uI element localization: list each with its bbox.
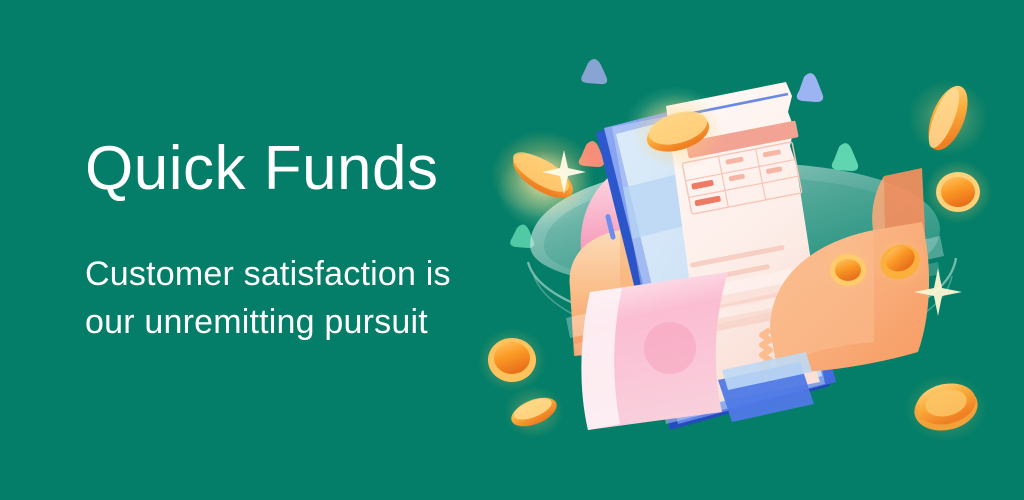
coin-top-right-edge (908, 80, 988, 156)
copy-block: Quick Funds Customer satisfaction is our… (85, 138, 565, 347)
subtitle: Customer satisfaction is our unremitting… (85, 250, 565, 347)
coin-on-ring (822, 246, 874, 294)
confetti-triangle-blue-left (581, 59, 607, 84)
confetti-triangle-mint-upper (832, 143, 858, 171)
banknote-watermark (644, 322, 696, 374)
coin-bottom-right (904, 374, 988, 442)
banknote-pink (581, 272, 728, 430)
confetti-triangle-blue-right (797, 73, 823, 102)
coin-lower-left-b (504, 386, 564, 438)
page-title: Quick Funds (85, 138, 565, 200)
coin-top-center (632, 94, 724, 170)
coin-right-upper (924, 160, 992, 224)
subtitle-line-2: our unremitting pursuit (85, 298, 565, 346)
subtitle-line-1: Customer satisfaction is (85, 250, 565, 298)
promo-banner: Quick Funds Customer satisfaction is our… (0, 0, 1024, 500)
